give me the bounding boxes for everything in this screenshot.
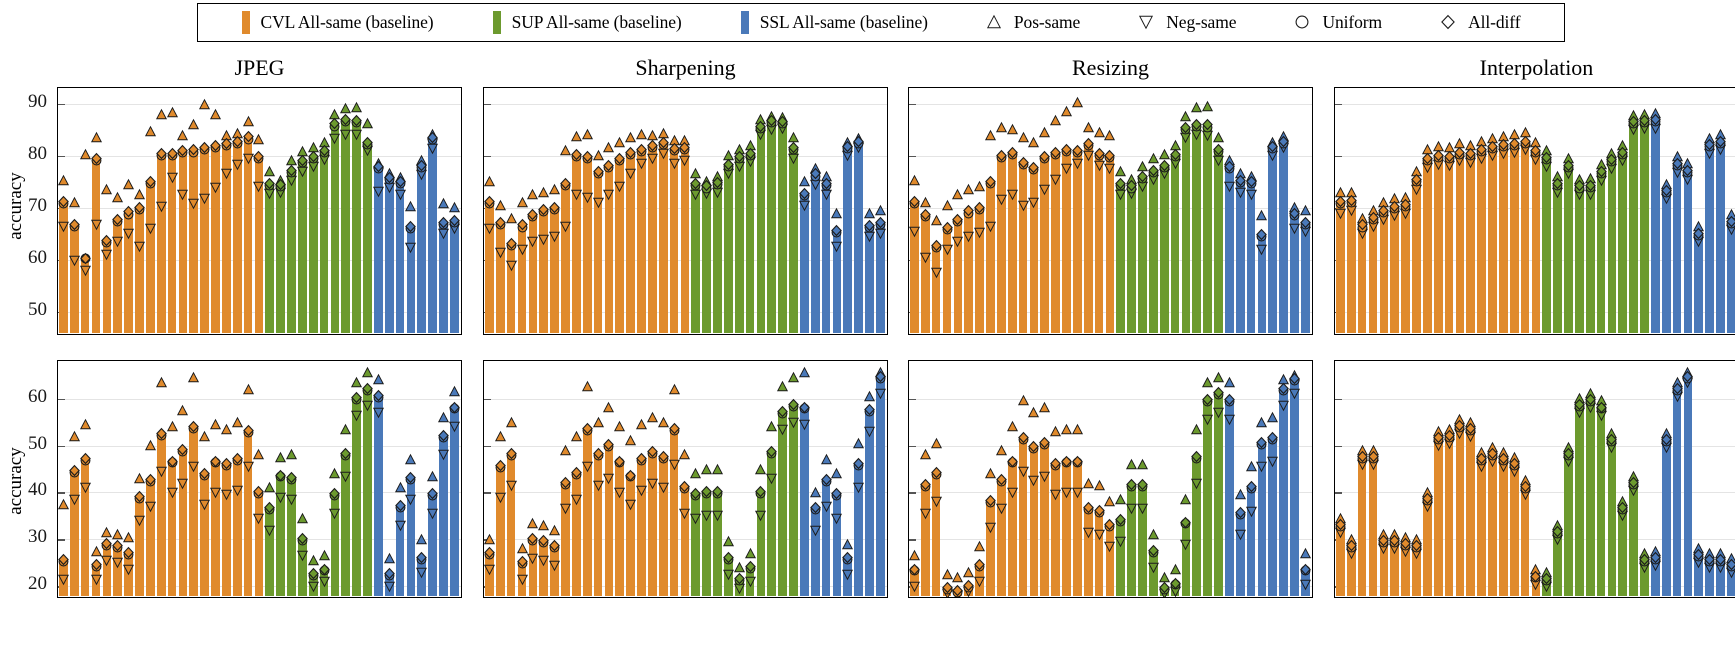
y-tick-mark [58, 492, 65, 493]
marker-triangle-up [1726, 553, 1735, 564]
bar [1214, 151, 1223, 333]
bar [1542, 579, 1551, 595]
marker-triangle-up [1596, 159, 1607, 170]
marker-triangle-up [909, 175, 920, 186]
marker-triangle-up [80, 419, 91, 430]
marker-triangle-up [1389, 193, 1400, 204]
marker-triangle-up [701, 176, 712, 187]
marker-triangle-up [603, 142, 614, 153]
bar [396, 507, 405, 596]
marker-triangle-up [1465, 140, 1476, 151]
marker-triangle-up [1346, 187, 1357, 198]
marker-triangle-up [875, 205, 886, 216]
y-tick-mark [484, 539, 491, 540]
bar [1171, 156, 1180, 333]
marker-triangle-up [810, 163, 821, 174]
circle-icon [1295, 15, 1311, 31]
diamond-icon [1441, 15, 1457, 31]
bar [417, 558, 426, 596]
bar [341, 455, 350, 596]
marker-triangle-up [199, 99, 210, 110]
marker-triangle-up [1476, 136, 1487, 147]
bar [1662, 192, 1671, 333]
bar [113, 221, 122, 333]
marker-triangle-up [275, 452, 286, 463]
legend-label: SSL All-same (baseline) [760, 12, 928, 33]
marker-triangle-up [286, 155, 297, 166]
bar [496, 467, 505, 596]
marker-triangle-up [1661, 179, 1672, 190]
bar [626, 476, 635, 596]
bar [550, 546, 559, 595]
marker-triangle-up [864, 391, 875, 402]
bar [146, 481, 155, 596]
bar [1684, 171, 1693, 332]
bar [910, 570, 919, 596]
bar [746, 568, 755, 596]
bar [1258, 443, 1267, 596]
bar [702, 187, 711, 333]
bar [1192, 126, 1201, 333]
marker-triangle-up [745, 548, 756, 559]
bar [954, 221, 963, 333]
bar [1445, 436, 1454, 596]
y-tick-mark [1335, 399, 1342, 400]
marker-triangle-up [405, 201, 416, 212]
marker-triangle-up [614, 421, 625, 432]
bar [496, 223, 505, 332]
bar [1608, 161, 1617, 333]
bar [1051, 464, 1060, 595]
bar [320, 570, 329, 596]
marker-triangle-up [571, 131, 582, 142]
marker-triangle-up [340, 103, 351, 114]
bar [921, 216, 930, 333]
bar [594, 173, 603, 333]
bar [450, 408, 459, 596]
marker-triangle-up [1509, 129, 1520, 140]
marker-triangle-up [351, 377, 362, 388]
bar [1008, 462, 1017, 596]
marker-triangle-up [308, 142, 319, 153]
bar [1716, 561, 1725, 596]
bar [1127, 187, 1136, 333]
marker-triangle-up [1278, 374, 1289, 385]
marker-triangle-up [329, 109, 340, 120]
legend-label: CVL All-same (baseline) [261, 12, 434, 33]
legend-entry-uniform[interactable]: Uniform [1295, 12, 1382, 33]
bar [865, 410, 874, 595]
marker-triangle-up [1444, 142, 1455, 153]
y-tick-mark [484, 156, 491, 157]
marker-triangle-up [134, 189, 145, 200]
bar [407, 478, 416, 595]
marker-triangle-up [1213, 372, 1224, 383]
marker-triangle-up [603, 402, 614, 413]
bar [789, 148, 798, 332]
bar [81, 260, 90, 333]
marker-triangle-up [1115, 494, 1126, 505]
bar [1380, 211, 1389, 332]
bar [81, 460, 90, 596]
bar [1564, 455, 1573, 596]
triangle-up-icon [987, 15, 1003, 31]
bar [507, 244, 516, 333]
marker-triangle-up [527, 189, 538, 200]
marker-triangle-up [712, 171, 723, 182]
bar [233, 460, 242, 596]
bar [854, 143, 863, 333]
gridline [909, 104, 1312, 105]
marker-triangle-up [1061, 106, 1072, 117]
bar [1694, 556, 1703, 596]
bar [287, 171, 296, 332]
bar [681, 149, 690, 333]
marker-triangle-up [286, 449, 297, 460]
marker-triangle-up [842, 137, 853, 148]
legend-entry-neg-same[interactable]: Neg-same [1139, 12, 1236, 33]
bar [1727, 565, 1735, 596]
marker-triangle-up [177, 405, 188, 416]
bar [975, 209, 984, 333]
bar [910, 203, 919, 333]
bar [1618, 509, 1627, 596]
bar [1030, 169, 1039, 333]
bar [1214, 394, 1223, 596]
marker-triangle-up [777, 112, 788, 123]
y-tick-mark [1335, 104, 1342, 105]
marker-triangle-up [985, 130, 996, 141]
marker-triangle-up [582, 129, 593, 140]
bar [124, 213, 133, 333]
bar [385, 575, 394, 596]
bar [179, 450, 188, 596]
bar [1716, 142, 1725, 333]
bar [1106, 525, 1115, 595]
bar [1062, 151, 1071, 333]
y-tick-mark [484, 492, 491, 493]
marker-triangle-up [658, 128, 669, 139]
legend-entry-pos-same[interactable]: Pos-same [987, 12, 1080, 33]
marker-triangle-up [506, 213, 517, 224]
marker-triangle-up [384, 553, 395, 564]
marker-triangle-up [755, 114, 766, 125]
bar [713, 492, 722, 595]
bar [1586, 186, 1595, 332]
bar [1127, 485, 1136, 595]
marker-triangle-up [920, 449, 931, 460]
bar [1575, 406, 1584, 596]
bar [637, 460, 646, 596]
bar [1369, 457, 1378, 596]
bar [233, 142, 242, 333]
marker-triangle-up [517, 197, 528, 208]
bar [1629, 122, 1638, 332]
bar [255, 492, 264, 595]
marker-triangle-up [1083, 122, 1094, 133]
marker-triangle-up [1650, 546, 1661, 557]
marker-triangle-up [156, 109, 167, 120]
marker-triangle-up [199, 431, 210, 442]
marker-triangle-up [669, 135, 680, 146]
bar [681, 488, 690, 596]
bar [1301, 223, 1310, 332]
marker-triangle-up [517, 543, 528, 554]
bar [735, 158, 744, 333]
bar [670, 149, 679, 332]
bar [439, 223, 448, 332]
marker-triangle-up [1498, 447, 1509, 458]
bar [1434, 157, 1443, 333]
bar [822, 481, 831, 596]
marker-triangle-up [495, 431, 506, 442]
bar [428, 139, 437, 333]
marker-triangle-up [1606, 148, 1617, 159]
bar [789, 406, 798, 596]
bar [287, 478, 296, 595]
bar [1456, 153, 1465, 333]
marker-triangle-up [1137, 459, 1148, 470]
bar [450, 222, 459, 333]
marker-triangle-up [1672, 377, 1683, 388]
marker-triangle-up [1191, 424, 1202, 435]
marker-triangle-up [275, 175, 286, 186]
bar [746, 155, 755, 333]
y-tick-mark [58, 104, 65, 105]
marker-triangle-up [221, 130, 232, 141]
bar [670, 429, 679, 596]
marker-triangle-up [538, 520, 549, 531]
marker-triangle-up [232, 417, 243, 428]
marker-triangle-up [1028, 407, 1039, 418]
bar [146, 183, 155, 333]
bar [374, 396, 383, 596]
bar [572, 474, 581, 596]
marker-triangle-up [636, 419, 647, 430]
marker-triangle-up [745, 140, 756, 151]
bar [539, 210, 548, 332]
marker-triangle-up [755, 464, 766, 475]
y-tick-mark [58, 399, 65, 400]
bar [265, 184, 274, 332]
bar [615, 462, 624, 596]
marker-triangle-up [1530, 137, 1541, 148]
marker-triangle-up [1028, 137, 1039, 148]
bar [1705, 561, 1714, 596]
bar [1499, 146, 1508, 333]
marker-triangle-up [319, 137, 330, 148]
marker-triangle-up [831, 468, 842, 479]
bar [1203, 126, 1212, 333]
bar [964, 212, 973, 333]
marker-triangle-up [362, 367, 373, 378]
marker-triangle-up [963, 567, 974, 578]
marker-triangle-up [549, 525, 560, 536]
marker-triangle-up [1235, 168, 1246, 179]
marker-triangle-up [1617, 496, 1628, 507]
bar [529, 216, 538, 333]
marker-triangle-up [1378, 197, 1389, 208]
bar [200, 475, 209, 596]
gridline [1335, 104, 1735, 105]
marker-triangle-up [1726, 209, 1735, 220]
marker-triangle-up [1639, 548, 1650, 559]
bar [843, 558, 852, 596]
bar [572, 156, 581, 333]
gridline [58, 104, 461, 105]
bar [583, 158, 592, 333]
gridline [484, 446, 887, 447]
bar [103, 242, 112, 333]
bar [1532, 152, 1541, 333]
green-bar-swatch [493, 11, 501, 34]
bar [320, 152, 329, 333]
bar [605, 166, 614, 333]
bar [986, 183, 995, 333]
marker-triangle-up [1018, 132, 1029, 143]
bar [485, 554, 494, 596]
legend-label: Uniform [1322, 12, 1382, 33]
marker-triangle-up [974, 181, 985, 192]
marker-triangle-up [734, 562, 745, 573]
marker-triangle-up [1159, 149, 1170, 160]
marker-triangle-up [101, 184, 112, 195]
legend-entry-cvl-all-same-baseline[interactable]: CVL All-same (baseline) [242, 11, 434, 34]
legend-entry-ssl-all-same-baseline[interactable]: SSL All-same (baseline) [741, 11, 928, 34]
bar [1608, 441, 1617, 596]
marker-triangle-up [647, 412, 658, 423]
bar [811, 175, 820, 333]
bar [615, 159, 624, 332]
marker-triangle-up [701, 464, 712, 475]
marker-triangle-up [1039, 127, 1050, 138]
bar [168, 154, 177, 333]
bar [539, 542, 548, 596]
bar [876, 223, 885, 332]
y-tick-mark [909, 104, 916, 105]
bar [876, 377, 885, 595]
bar [1705, 146, 1714, 333]
bar [1138, 178, 1147, 333]
bar [1651, 121, 1660, 333]
marker-triangle-up [373, 374, 384, 385]
bar [92, 565, 101, 596]
legend-entry-sup-all-same-baseline[interactable]: SUP All-same (baseline) [493, 11, 682, 34]
bar [1019, 164, 1028, 333]
marker-triangle-up [167, 107, 178, 118]
marker-triangle-up [1278, 131, 1289, 142]
bar [70, 226, 79, 333]
marker-triangle-up [1454, 414, 1465, 425]
marker-triangle-up [1061, 424, 1072, 435]
marker-triangle-up [1715, 548, 1726, 559]
marker-triangle-up [1476, 447, 1487, 458]
bar [1051, 154, 1060, 333]
marker-triangle-up [1018, 395, 1029, 406]
bar [113, 546, 122, 595]
bar [659, 457, 668, 596]
marker-triangle-up [1072, 424, 1083, 435]
bar [943, 589, 952, 596]
marker-triangle-up [1444, 424, 1455, 435]
bar [1040, 157, 1049, 333]
marker-triangle-up [1606, 428, 1617, 439]
marker-triangle-up [210, 109, 221, 120]
bar [529, 539, 538, 595]
bar [1062, 462, 1071, 596]
marker-triangle-up [1094, 480, 1105, 491]
marker-triangle-up [931, 438, 942, 449]
bar [1434, 438, 1443, 595]
bar [1445, 158, 1454, 333]
marker-triangle-up [1704, 548, 1715, 559]
marker-triangle-up [210, 419, 221, 430]
marker-triangle-up [952, 572, 963, 583]
marker-triangle-up [1552, 171, 1563, 182]
bar [1138, 485, 1147, 595]
marker-triangle-up [253, 449, 264, 460]
legend-entry-all-diff[interactable]: All-diff [1441, 12, 1520, 33]
bar [1412, 546, 1421, 595]
bar [1149, 551, 1158, 596]
bar [211, 462, 220, 596]
bar [811, 509, 820, 596]
marker-triangle-up [864, 208, 875, 219]
y-tick-mark [909, 399, 916, 400]
marker-triangle-up [1180, 494, 1191, 505]
bar [626, 153, 635, 333]
bar [822, 184, 831, 332]
bar [518, 226, 527, 333]
panel-title-jpeg: JPEG [57, 55, 462, 81]
bar [975, 565, 984, 596]
bar [1358, 226, 1367, 333]
bar [222, 144, 231, 333]
marker-triangle-up [931, 215, 942, 226]
marker-triangle-up [427, 471, 438, 482]
bar [1247, 183, 1256, 333]
bar [363, 144, 372, 333]
bar [659, 144, 668, 333]
marker-triangle-up [449, 386, 460, 397]
marker-triangle-up [766, 111, 777, 122]
marker-triangle-up [1465, 417, 1476, 428]
bar [417, 167, 426, 333]
marker-triangle-up [1487, 442, 1498, 453]
y-tick-label: 20 [5, 573, 47, 595]
bar [932, 247, 941, 333]
gridline [484, 399, 887, 400]
bar [1290, 380, 1299, 596]
marker-triangle-up [1433, 141, 1444, 152]
y-tick-label: 50 [5, 299, 47, 321]
bar [1336, 525, 1345, 595]
marker-triangle-up [308, 555, 319, 566]
bar [1532, 577, 1541, 596]
marker-triangle-up [788, 132, 799, 143]
bar [1466, 429, 1475, 596]
bar [1499, 460, 1508, 596]
marker-triangle-up [1202, 377, 1213, 388]
bar [59, 561, 68, 596]
marker-triangle-up [625, 132, 636, 143]
marker-triangle-up [69, 431, 80, 442]
marker-triangle-up [1039, 402, 1050, 413]
bar [298, 161, 307, 332]
marker-triangle-up [1628, 110, 1639, 121]
bar [800, 194, 809, 333]
marker-triangle-up [538, 187, 549, 198]
